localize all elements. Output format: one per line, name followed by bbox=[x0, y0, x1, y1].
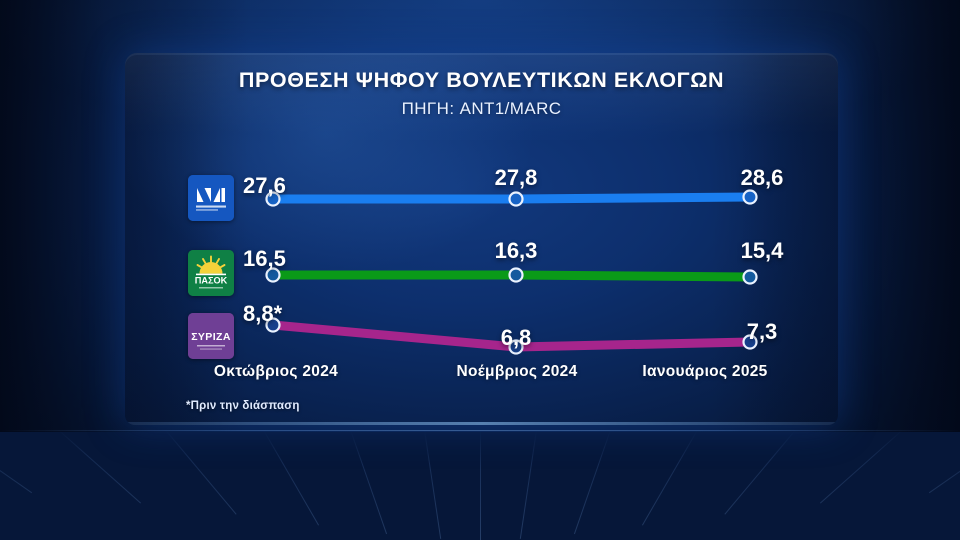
value-pasok-0: 16,5 bbox=[243, 246, 286, 272]
x-axis-tick-2: Ιανουάριος 2025 bbox=[642, 363, 767, 381]
series-values-pasok: 16,5 16,3 15,4 bbox=[125, 238, 838, 312]
series-row-pasok: ΠΑΣΟΚ 16,5 16,3 15,4 bbox=[125, 238, 838, 312]
broadcast-graphic: ΠΡΟΘΕΣΗ ΨΗΦΟΥ ΒΟΥΛΕΥΤΙΚΩΝ ΕΚΛΟΓΩΝ ΠΗΓΗ: … bbox=[0, 0, 960, 540]
value-syriza-1: 6,8 bbox=[501, 325, 532, 351]
value-pasok-2: 15,4 bbox=[741, 238, 784, 264]
value-syriza-0: 8,8* bbox=[243, 301, 282, 327]
footnote: *Πριν την διάσπαση bbox=[186, 400, 300, 412]
panel-bottom-edge bbox=[125, 422, 838, 425]
x-axis-tick-1: Νοέμβριος 2024 bbox=[456, 363, 577, 381]
floor-line bbox=[480, 430, 481, 540]
value-nd-2: 28,6 bbox=[741, 165, 784, 191]
x-axis-tick-0: Οκτώβριος 2024 bbox=[214, 363, 338, 381]
x-axis: Οκτώβριος 2024 Νοέμβριος 2024 Ιανουάριος… bbox=[125, 363, 838, 389]
series-values-nd: 27,6 27,8 28,6 bbox=[125, 165, 838, 239]
value-nd-0: 27,6 bbox=[243, 173, 286, 199]
chart-panel: ΠΡΟΘΕΣΗ ΨΗΦΟΥ ΒΟΥΛΕΥΤΙΚΩΝ ΕΚΛΟΓΩΝ ΠΗΓΗ: … bbox=[125, 53, 838, 425]
series-row-nd: 27,6 27,8 28,6 bbox=[125, 165, 838, 239]
value-syriza-2: 7,3 bbox=[747, 319, 778, 345]
value-pasok-1: 16,3 bbox=[495, 238, 538, 264]
value-nd-1: 27,8 bbox=[495, 165, 538, 191]
